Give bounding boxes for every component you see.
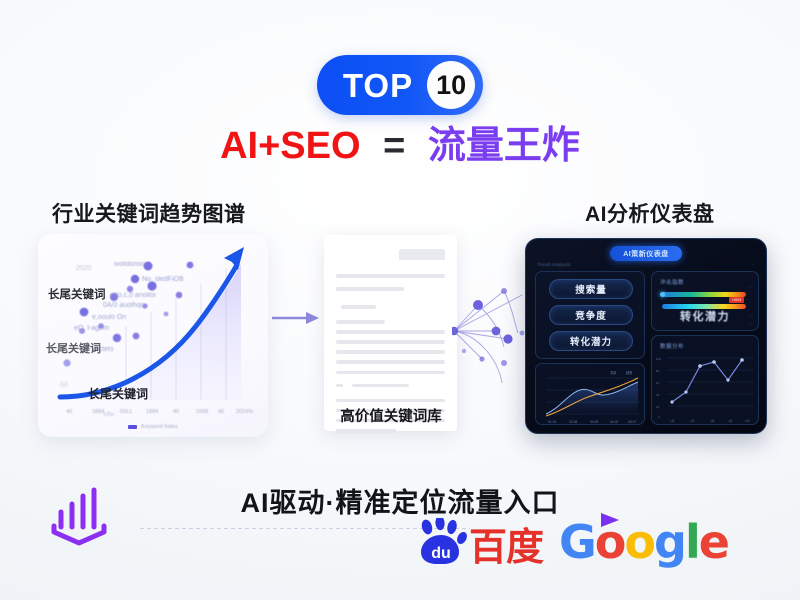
dashboard-title-badge: AI策新仪表盘 (610, 246, 682, 261)
svg-text:1月: 1月 (670, 419, 675, 423)
sparkline-panel: 流量趋势 01-0402-08 03-0504-02 05-07 (535, 363, 645, 425)
svg-text:3月: 3月 (710, 419, 715, 423)
google-logo[interactable]: G o o g l e (559, 519, 728, 565)
gauge-panel-title: 冲击指数 (660, 278, 684, 286)
google-letter-e: e (699, 519, 728, 565)
left-section-caption: 行业关键词趋势图谱 (52, 198, 246, 228)
right-section-caption: AI分析仪表盘 (585, 198, 715, 228)
page-title: AI+SEO = 流量王炸 (0, 126, 800, 168)
svg-text:4月: 4月 (728, 419, 733, 423)
metric-pills-panel: 搜索量 竞争度 转化潜力 (535, 271, 645, 359)
keyword-document-card[interactable] (324, 235, 457, 431)
document-header-chip (399, 249, 445, 260)
google-letter-g1: G (559, 519, 595, 565)
baidu-logo[interactable]: du 百度 (415, 518, 543, 566)
axis-tick: 40 (218, 409, 224, 415)
axis-tick: 2024% (236, 409, 253, 415)
svg-text:2月: 2月 (690, 419, 695, 423)
search-engine-logos: du 百度 G o o g l e (415, 518, 728, 566)
gauge-indicator-dot (660, 292, 665, 297)
gauge-high-tag: HIGH (729, 297, 744, 303)
pill-search-volume[interactable]: 搜索量 (549, 279, 633, 299)
headline-right: 流量王炸 (428, 125, 580, 167)
top-badge-container: TOP 10 (0, 55, 800, 115)
google-letter-o2: o (624, 519, 654, 565)
headline-equals: = (371, 125, 417, 167)
dashboard-window-dots: · · · (740, 262, 755, 268)
gauge-overlay-text: 转化潜力 (652, 308, 758, 324)
svg-text:0: 0 (658, 415, 660, 419)
google-letter-l: l (685, 519, 699, 565)
svg-text:01-04: 01-04 (548, 420, 556, 424)
svg-text:60: 60 (656, 381, 660, 385)
dashboard-header: AI策新仪表盘 (526, 246, 766, 261)
axis-tick: 0SLL (120, 409, 133, 415)
legend-swatch (128, 425, 137, 429)
svg-text:04-02: 04-02 (610, 420, 618, 424)
svg-text:5月: 5月 (745, 419, 750, 423)
top-badge[interactable]: TOP 10 (317, 55, 483, 115)
keyword-label-1: 长尾关键词 (48, 286, 106, 302)
svg-text:40: 40 (656, 393, 660, 397)
document-caption: 高价值关键词库 (325, 405, 457, 426)
keyword-label-2: 长尾关键词 (46, 340, 101, 356)
axis-tick: 1884 (146, 409, 158, 415)
axis-tick: 40 (66, 409, 72, 415)
headline-left: AI+SEO (220, 125, 360, 167)
google-letter-g2: g (654, 519, 685, 565)
legend-label: Keyword Index (141, 424, 177, 430)
play-arrow-icon (597, 510, 623, 530)
svg-text:80: 80 (656, 369, 660, 373)
trend-chart-card[interactable]: ivololorion No. sledFiOB etto,c,0 anoito… (38, 234, 268, 437)
axis-tick: 1068 (196, 409, 208, 415)
keyword-label-3: 长尾关键词 (88, 385, 148, 402)
svg-text:02-08: 02-08 (569, 420, 577, 424)
svg-text:05-07: 05-07 (628, 420, 636, 424)
baidu-label: 百度 (469, 531, 543, 566)
svg-text:03-05: 03-05 (590, 420, 598, 424)
axis-sublabel: · Effie (100, 412, 114, 418)
bar-chart-icon (48, 483, 110, 551)
baidu-paw-icon: du (415, 518, 467, 566)
top-badge-label: TOP (343, 69, 427, 102)
pill-competition[interactable]: 竞争度 (549, 305, 633, 325)
network-graph-icon (452, 275, 528, 387)
baidu-du-text: du (431, 545, 451, 562)
distribution-panel: 数据分布 10080 6040 200 1月2月 3月4月 (651, 335, 759, 425)
svg-text:流量: 流量 (610, 370, 617, 375)
svg-text:20: 20 (656, 405, 660, 409)
svg-text:100: 100 (656, 357, 661, 361)
trend-chart-svg (38, 234, 268, 437)
impact-gauge-panel: 冲击指数 HIGH ···· ···· ···· 转化潜力 (651, 271, 759, 331)
sparkline-chart: 流量趋势 01-0402-08 03-0504-02 05-07 (536, 364, 646, 426)
trend-panel-title: 数据分布 (660, 342, 684, 350)
top-badge-number: 10 (427, 61, 475, 109)
dashboard-meta-left: Trend Analysis (537, 262, 571, 267)
axis-tick: 40 (173, 409, 179, 415)
svg-text:趋势: 趋势 (626, 370, 633, 375)
ai-dashboard-card[interactable]: AI策新仪表盘 Trend Analysis · · · 搜索量 竞争度 转化潜… (525, 238, 767, 434)
pill-conversion-potential[interactable]: 转化潜力 (549, 331, 633, 351)
flow-arrow-icon (272, 310, 320, 326)
chart-legend: Keyword Index (38, 424, 268, 430)
